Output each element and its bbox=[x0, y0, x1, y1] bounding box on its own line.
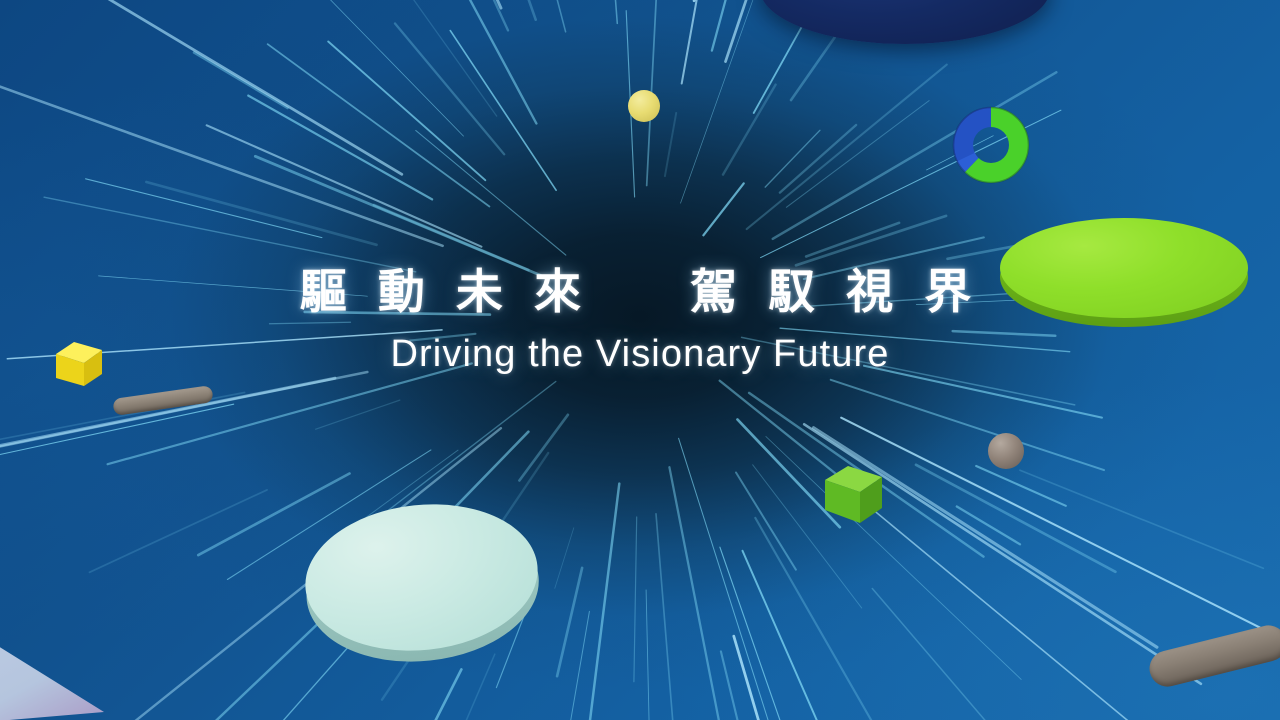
title-english: Driving the Visionary Future bbox=[0, 333, 1280, 376]
video-frame: 驅 動 未 來 駕 馭 視 界 Driving the Visionary Fu… bbox=[0, 0, 1280, 720]
yellow-sphere bbox=[628, 90, 660, 122]
title-chinese: 驅 動 未 來 駕 馭 視 界 bbox=[0, 264, 1280, 319]
title-block: 驅 動 未 來 駕 馭 視 界 Driving the Visionary Fu… bbox=[0, 264, 1280, 376]
brown-sphere bbox=[988, 433, 1024, 469]
lavender-triangle bbox=[0, 618, 116, 720]
blue-green-torus bbox=[952, 106, 1030, 184]
torus-svg bbox=[952, 106, 1030, 184]
green-cube bbox=[822, 463, 888, 534]
